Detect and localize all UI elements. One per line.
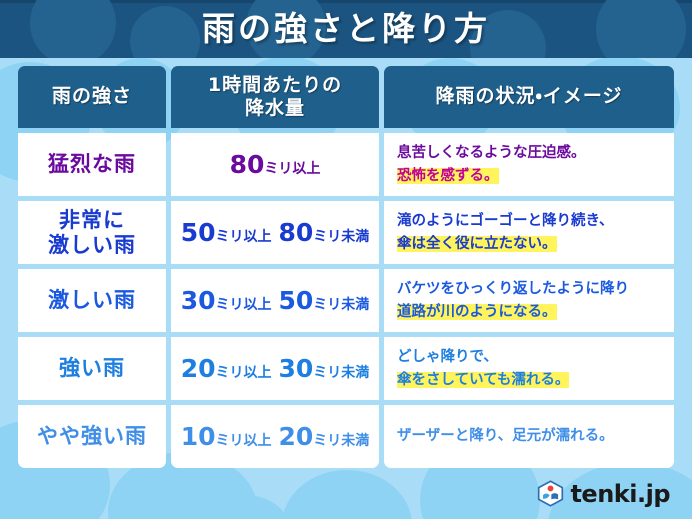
column-header-intensity: 雨の強さ bbox=[18, 66, 166, 128]
highlighted-text: 傘は全く役に立たない。 bbox=[397, 236, 557, 252]
amount-unit: ミリ未満 bbox=[313, 229, 369, 245]
amount-unit: ミリ以上 bbox=[264, 161, 320, 177]
intensity-label: 強い雨 bbox=[59, 356, 125, 381]
highlighted-text: 道路が川のようになる。 bbox=[397, 304, 557, 320]
table-row: 激しい雨30ミリ以上50ミリ未満バケツをひっくり返したように降り道路が川のように… bbox=[18, 269, 674, 332]
rainfall-amount-label: 20ミリ以上30ミリ未満 bbox=[181, 354, 370, 383]
description-text: バケツをひっくり返したように降り bbox=[397, 281, 629, 297]
highlighted-text: 傘をさしていても濡れる。 bbox=[397, 372, 569, 388]
tenki-jp-logo[interactable]: tenki.jp bbox=[537, 480, 670, 507]
rainfall-amount-label: 80ミリ以上 bbox=[230, 150, 321, 179]
condition-description: 滝のようにゴーゴーと降り続き、傘は全く役に立たない。 bbox=[384, 210, 613, 255]
cell-condition-description: 滝のようにゴーゴーと降り続き、傘は全く役に立たない。 bbox=[384, 201, 674, 264]
rain-intensity-table: 雨の強さ 1時間あたりの 降水量 降雨の状況・イメージ 猛烈な雨80ミリ以上息苦… bbox=[18, 66, 674, 473]
amount-number: 10 bbox=[181, 422, 216, 451]
description-text: 滝のようにゴーゴーと降り続き、 bbox=[397, 213, 613, 229]
cell-rainfall-amount: 20ミリ以上30ミリ未満 bbox=[171, 337, 379, 400]
condition-description: バケツをひっくり返したように降り道路が川のようになる。 bbox=[384, 278, 629, 323]
table-row: やや強い雨10ミリ以上20ミリ未満ザーザーと降り、足元が濡れる。 bbox=[18, 405, 674, 468]
column-header-conditions: 降雨の状況・イメージ bbox=[384, 66, 674, 128]
rainfall-amount-label: 10ミリ以上20ミリ未満 bbox=[181, 422, 370, 451]
condition-description: どしゃ降りで、傘をさしていても濡れる。 bbox=[384, 346, 569, 391]
description-line: どしゃ降りで、 bbox=[397, 346, 569, 368]
cell-rainfall-amount: 50ミリ以上80ミリ未満 bbox=[171, 201, 379, 264]
description-text: どしゃ降りで、 bbox=[397, 349, 498, 365]
intensity-label: やや強い雨 bbox=[37, 424, 147, 449]
intensity-label: 猛烈な雨 bbox=[48, 152, 136, 177]
description-line: 恐怖を感ずる。 bbox=[397, 165, 586, 187]
amount-unit: ミリ以上 bbox=[216, 433, 272, 449]
page-title: 雨の強さと降り方 bbox=[0, 0, 692, 58]
description-line: 傘は全く役に立たない。 bbox=[397, 233, 613, 255]
highlighted-text: 恐怖を感ずる。 bbox=[397, 168, 499, 184]
amount-number: 30 bbox=[181, 286, 216, 315]
cell-intensity-name: 猛烈な雨 bbox=[18, 133, 166, 196]
table-row: 非常に 激しい雨50ミリ以上80ミリ未満滝のようにゴーゴーと降り続き、傘は全く役… bbox=[18, 201, 674, 264]
amount-unit: ミリ未満 bbox=[313, 365, 369, 381]
condition-description: 息苦しくなるような圧迫感。恐怖を感ずる。 bbox=[384, 142, 586, 187]
title-band: 雨の強さと降り方 bbox=[0, 0, 692, 58]
rainfall-amount-label: 30ミリ以上50ミリ未満 bbox=[181, 286, 370, 315]
cell-rainfall-amount: 10ミリ以上20ミリ未満 bbox=[171, 405, 379, 468]
cell-intensity-name: 激しい雨 bbox=[18, 269, 166, 332]
amount-number: 20 bbox=[279, 422, 314, 451]
amount-number: 50 bbox=[279, 286, 314, 315]
amount-unit: ミリ以上 bbox=[216, 297, 272, 313]
cell-rainfall-amount: 80ミリ以上 bbox=[171, 133, 379, 196]
tenki-cube-icon bbox=[537, 480, 564, 507]
tenki-jp-wordmark: tenki.jp bbox=[570, 482, 670, 506]
description-text: 息苦しくなるような圧迫感。 bbox=[397, 145, 586, 161]
description-text: ザーザーと降り、足元が濡れる。 bbox=[397, 428, 614, 444]
amount-unit: ミリ以上 bbox=[216, 365, 272, 381]
amount-number: 20 bbox=[181, 354, 216, 383]
rainfall-amount-label: 50ミリ以上80ミリ未満 bbox=[181, 218, 370, 247]
amount-number: 50 bbox=[181, 218, 216, 247]
description-line: 道路が川のようになる。 bbox=[397, 301, 629, 323]
cell-condition-description: どしゃ降りで、傘をさしていても濡れる。 bbox=[384, 337, 674, 400]
amount-number: 80 bbox=[230, 150, 265, 179]
table-header-row: 雨の強さ 1時間あたりの 降水量 降雨の状況・イメージ bbox=[18, 66, 674, 128]
amount-unit: ミリ未満 bbox=[313, 433, 369, 449]
column-header-rainfall: 1時間あたりの 降水量 bbox=[171, 66, 379, 128]
intensity-label: 非常に 激しい雨 bbox=[48, 208, 136, 258]
intensity-label: 激しい雨 bbox=[48, 288, 136, 313]
table-body: 猛烈な雨80ミリ以上息苦しくなるような圧迫感。恐怖を感ずる。非常に 激しい雨50… bbox=[18, 133, 674, 468]
cell-condition-description: 息苦しくなるような圧迫感。恐怖を感ずる。 bbox=[384, 133, 674, 196]
amount-number: 30 bbox=[279, 354, 314, 383]
infographic-page: 雨の強さと降り方 雨の強さ 1時間あたりの 降水量 降雨の状況・イメージ 猛烈な… bbox=[0, 0, 692, 519]
description-line: 滝のようにゴーゴーと降り続き、 bbox=[397, 210, 613, 232]
cell-condition-description: バケツをひっくり返したように降り道路が川のようになる。 bbox=[384, 269, 674, 332]
cell-rainfall-amount: 30ミリ以上50ミリ未満 bbox=[171, 269, 379, 332]
amount-unit: ミリ未満 bbox=[313, 297, 369, 313]
table-row: 猛烈な雨80ミリ以上息苦しくなるような圧迫感。恐怖を感ずる。 bbox=[18, 133, 674, 196]
amount-unit: ミリ以上 bbox=[216, 229, 272, 245]
table-row: 強い雨20ミリ以上30ミリ未満どしゃ降りで、傘をさしていても濡れる。 bbox=[18, 337, 674, 400]
cell-intensity-name: 強い雨 bbox=[18, 337, 166, 400]
description-line: ザーザーと降り、足元が濡れる。 bbox=[397, 425, 614, 447]
condition-description: ザーザーと降り、足元が濡れる。 bbox=[384, 425, 614, 447]
cell-condition-description: ザーザーと降り、足元が濡れる。 bbox=[384, 405, 674, 468]
description-line: 息苦しくなるような圧迫感。 bbox=[397, 142, 586, 164]
cell-intensity-name: やや強い雨 bbox=[18, 405, 166, 468]
description-line: 傘をさしていても濡れる。 bbox=[397, 369, 569, 391]
cell-intensity-name: 非常に 激しい雨 bbox=[18, 201, 166, 264]
description-line: バケツをひっくり返したように降り bbox=[397, 278, 629, 300]
amount-number: 80 bbox=[279, 218, 314, 247]
